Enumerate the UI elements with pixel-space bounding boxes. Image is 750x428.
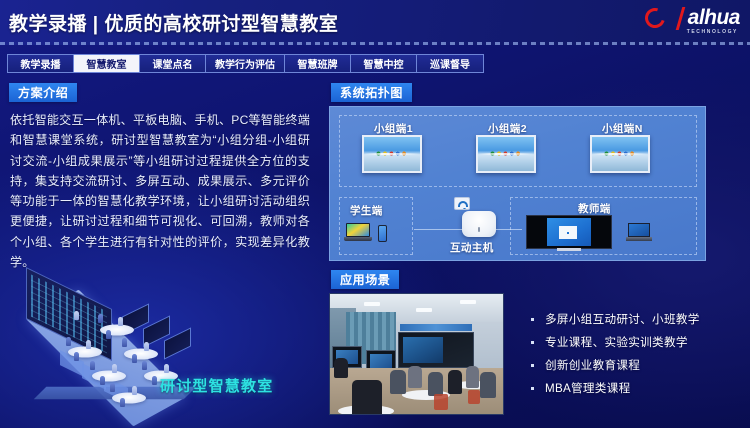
scene-ceiling-light [460,300,476,304]
student-figure [112,364,117,373]
scene-display-content [403,337,443,363]
plan-paragraph: 依托智能交互一体机、平板电脑、手机、PC等智能终端和智慧课堂系统，研讨型智慧教室… [10,110,310,272]
bullet-text: 创新创业教育课程 [545,356,743,376]
scene-bullet-list: 多屏小组互动研讨、小班教学 专业课程、实验实训类教学 创新创业教育课程 MBA管… [525,310,743,402]
scene-attendee [466,366,479,388]
bullet-text: 专业课程、实验实训类教学 [545,333,743,353]
monitor-dots-icon [376,151,407,156]
tab-label: 教学录播 [21,56,61,71]
student-figure [74,352,79,361]
header-dotted-divider [0,42,750,45]
slide-page: 教学录播 | 优质的高校研讨型智慧教室 alhua TECHNOLOGY 教学录… [0,0,750,428]
classroom-caption: 研讨型智慧教室 [160,375,273,396]
scene-chair [468,390,480,404]
scene-attendee [428,372,443,396]
student-figure [86,340,91,349]
scene-wall-strip [400,324,472,331]
scene-attendee [352,380,382,415]
teacher-display-screen [547,218,591,246]
scene-ceiling-light [364,302,380,306]
logo-subtitle: TECHNOLOGY [687,29,738,35]
bullet-text: MBA管理类课程 [545,379,743,399]
tab-label: 巡课督导 [430,56,470,71]
scene-attendee [390,370,406,394]
list-item: 专业课程、实验实训类教学 [525,333,743,353]
monitor-dots-icon [604,151,635,156]
tab-label: 教学行为评估 [215,56,275,71]
list-item: MBA管理类课程 [525,379,743,399]
group-node-2-monitor [476,135,536,173]
laptop-screen [346,223,370,237]
wifi-icon [454,197,470,210]
student-figure [142,361,147,370]
tab-xunkedudao[interactable]: 巡课督导 [417,55,483,72]
student-figure [90,361,95,370]
teacher-display-icon [526,215,612,249]
student-figure [106,330,111,339]
student-zone-label: 学生端 [350,203,383,218]
tab-zhihuizhongkong[interactable]: 智慧中控 [351,55,417,72]
laptop-screen [628,223,650,237]
scene-ceiling-light [416,308,432,312]
laptop-base [626,237,652,241]
scene-attendee [408,366,422,388]
tab-zhihuibanpai[interactable]: 智慧班牌 [285,55,351,72]
link-host-teacher [496,229,522,230]
student-figure [164,364,169,373]
page-header: 教学录播 | 优质的高校研讨型智慧教室 alhua TECHNOLOGY [0,0,750,45]
student-figure [98,314,103,323]
group-table [112,393,146,404]
teacher-figure [74,311,79,320]
group-node-n-monitor [590,135,650,173]
section-badge-topology: 系统拓扑图 [331,83,412,102]
laptop-base [344,237,372,241]
link-student-host [414,229,462,230]
host-label: 互动主机 [450,240,494,255]
scene-chair [434,394,448,410]
list-item: 多屏小组互动研讨、小班教学 [525,310,743,330]
group-node-1-label: 小组端1 [374,121,413,136]
scene-attendee [480,372,496,398]
tab-jiaoxuexingwei[interactable]: 教学行为评估 [206,55,285,72]
student-figure [132,386,137,395]
monitor-dots-icon [490,151,521,156]
student-figure [110,383,115,392]
dahua-logo: alhua TECHNOLOGY [644,7,742,39]
group-node-2-label: 小组端2 [488,121,527,136]
student-figure [120,398,125,407]
tab-label: 智慧教室 [87,56,127,71]
scene-attendee [334,358,348,378]
group-node-1-monitor [362,135,422,173]
student-figure [132,354,137,363]
section-badge-scene: 应用场景 [331,270,399,289]
nav-tabbar[interactable]: 教学录播 智慧教室 课堂点名 教学行为评估 智慧班牌 智慧中控 巡课督导 [7,54,484,73]
interactive-host-device [462,211,496,237]
student-figure [122,338,127,347]
tab-label: 课堂点名 [153,56,193,71]
section-badge-plan: 方案介绍 [9,83,77,102]
tab-zhihuijiaoshi[interactable]: 智慧教室 [74,55,140,72]
student-figure [144,342,149,351]
student-phone-icon [378,225,387,242]
student-laptop-icon [344,223,372,243]
group-node-n-label: 小组端N [602,121,643,136]
list-item: 创新创业教育课程 [525,356,743,376]
topology-panel: 小组端1 小组端2 小组端N 学生端 互动主机 教师端 [329,106,706,261]
tab-label: 智慧班牌 [298,56,338,71]
scene-attendee [448,370,462,394]
group-table [124,349,158,360]
teacher-zone-label: 教师端 [578,201,611,216]
tab-jiaoxueluboo[interactable]: 教学录播 [8,55,74,72]
page-title: 教学录播 | 优质的高校研讨型智慧教室 [9,9,338,36]
student-figure [100,376,105,385]
student-figure [152,376,157,385]
bullet-text: 多屏小组互动研讨、小班教学 [545,310,743,330]
teacher-laptop-icon [626,223,652,243]
tab-label: 智慧中控 [364,56,404,71]
tab-ketangdianming[interactable]: 课堂点名 [140,55,206,72]
teacher-display-stand [557,248,581,251]
scene-front-display [398,332,474,368]
classroom-illustration: 研讨型智慧教室 [12,282,257,424]
scene-photo [329,293,504,415]
student-figure [118,317,123,326]
group-table [92,371,126,382]
student-figure [66,337,71,346]
